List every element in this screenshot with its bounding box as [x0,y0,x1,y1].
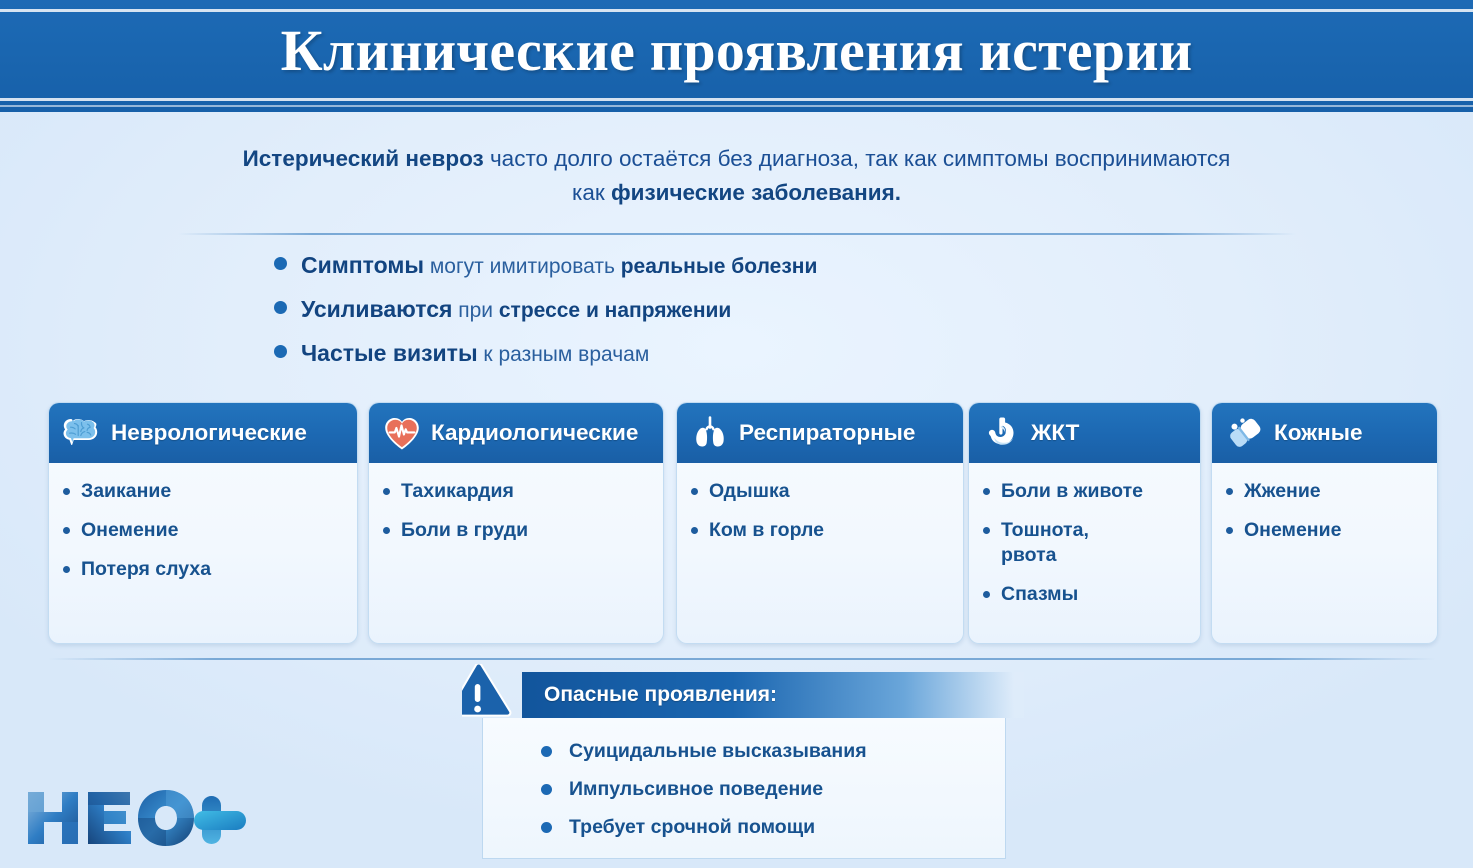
key-point-row: Симптомы могут имитировать реальные боле… [274,252,1174,296]
card-list-item: Боли в груди [383,518,651,543]
header-rule-bottom [0,98,1473,101]
stomach-icon [982,413,1022,453]
page-title: Клинические проявления истерии [0,17,1473,84]
card-item-label: Потеря слуха [81,557,211,582]
bullet-dot-icon [63,566,70,573]
bullet-dot-icon [1226,488,1233,495]
card-item-label: Спазмы [1001,582,1078,607]
card-title: ЖКТ [1031,420,1079,446]
bullet-dot-icon [983,591,990,598]
danger-list-item: Суицидальные высказывания [483,732,1005,770]
symptom-card-gastrointestinal[interactable]: ЖКТ Боли в животе Тошнота, рвота Спазмы [968,402,1201,644]
bandage-icon [1225,413,1265,453]
card-list-item: Онемение [63,518,345,543]
danger-signs-box: Опасные проявления: Суицидальные высказы… [462,672,1024,859]
card-item-label: Жжение [1244,479,1321,504]
card-item-label: Одышка [709,479,790,504]
card-header: Кожные [1212,403,1437,463]
danger-signs-list: Суицидальные высказывания Импульсивное п… [482,718,1006,859]
card-item-label: Боли в груди [401,518,528,543]
lungs-icon [690,413,730,453]
card-title: Неврологические [111,420,307,446]
danger-list-item: Импульсивное поведение [483,770,1005,808]
key-point-bold: Усиливаются [301,296,452,322]
warning-triangle-icon [462,664,548,726]
intro-paragraph: Истерический невроз часто долго остаётся… [130,142,1343,210]
key-point-row: Частые визиты к разным врачам [274,340,1174,384]
card-list-item: Заикание [63,479,345,504]
card-item-label: Заикание [81,479,171,504]
card-list-item: Потеря слуха [63,557,345,582]
danger-item-label: Суицидальные высказывания [569,740,867,763]
card-item-label: Онемение [81,518,178,543]
brain-icon [62,413,102,453]
bullet-dot-icon [541,784,552,795]
card-list-item: Жжение [1226,479,1425,504]
card-title: Респираторные [739,420,915,446]
intro-bold-lead: Истерический невроз [243,146,484,171]
bullet-dot-icon [1226,527,1233,534]
divider-top [178,233,1296,235]
card-list-item: Одышка [691,479,951,504]
card-header: Респираторные [677,403,963,463]
bullet-dot-icon [691,488,698,495]
bullet-dot-icon [63,488,70,495]
neo-plus-logo [20,786,256,850]
card-item-label: Тахикардия [401,479,514,504]
card-list-item: Онемение [1226,518,1425,543]
bullet-dot-icon [541,746,552,757]
danger-signs-title: Опасные проявления: [544,683,777,707]
bullet-dot-icon [274,301,287,314]
key-point-row: Усиливаются при стрессе и напряжении [274,296,1174,340]
divider-bottom [48,658,1436,660]
key-point-bold: Частые визиты [301,340,478,366]
key-point-regular: могут имитировать [424,255,621,278]
poster-header: Клинические проявления истерии [0,0,1473,112]
key-point-bold: Симптомы [301,252,424,278]
infographic-poster: Клинические проявления истерии Истеричес… [0,0,1473,868]
danger-item-label: Требует срочной помощи [569,816,815,839]
symptom-card-dermatological[interactable]: Кожные Жжение Онемение [1211,402,1438,644]
intro-bold-tail: физические заболевания. [611,180,901,205]
key-point-bold-2: стрессе и напряжении [499,299,731,322]
card-list-item: Ком в горле [691,518,951,543]
card-body: Боли в животе Тошнота, рвота Спазмы [969,463,1200,607]
key-point-regular: при [452,299,498,322]
symptom-card-respiratory[interactable]: Респираторные Одышка Ком в горле [676,402,964,644]
bullet-dot-icon [274,257,287,270]
bullet-dot-icon [274,345,287,358]
heart-pulse-icon [382,413,422,453]
danger-signs-header: Опасные проявления: [522,672,1024,718]
bullet-dot-icon [383,488,390,495]
danger-item-label: Импульсивное поведение [569,778,823,801]
card-header: Кардиологические [369,403,663,463]
card-item-label: Онемение [1244,518,1341,543]
header-rule-top [0,9,1473,12]
card-body: Одышка Ком в горле [677,463,963,543]
key-point-bold-2: реальные болезни [621,255,818,278]
header-rule-bottom-thin [0,105,1473,107]
symptom-card-cardiological[interactable]: Кардиологические Тахикардия Боли в груди [368,402,664,644]
card-item-label: Тошнота, рвота [1001,518,1089,568]
card-item-label: Ком в горле [709,518,824,543]
card-body: Тахикардия Боли в груди [369,463,663,543]
bullet-dot-icon [541,822,552,833]
card-list-item: Тахикардия [383,479,651,504]
bullet-dot-icon [983,488,990,495]
card-header: ЖКТ [969,403,1200,463]
bullet-dot-icon [983,527,990,534]
card-body: Жжение Онемение [1212,463,1437,543]
card-list-item: Тошнота, рвота [983,518,1188,568]
bullet-dot-icon [691,527,698,534]
key-points-list: Симптомы могут имитировать реальные боле… [274,252,1174,384]
symptom-card-neurological[interactable]: Неврологические Заикание Онемение Потеря… [48,402,358,644]
card-body: Заикание Онемение Потеря слуха [49,463,357,582]
intro-regular-1: часто долго остаётся без диагноза, так к… [484,146,1231,171]
card-title: Кожные [1274,420,1362,446]
card-item-label: Боли в животе [1001,479,1143,504]
card-list-item: Боли в животе [983,479,1188,504]
key-point-regular: к разным врачам [478,343,650,366]
bullet-dot-icon [63,527,70,534]
card-title: Кардиологические [431,420,638,446]
bullet-dot-icon [383,527,390,534]
intro-regular-2: как [572,180,611,205]
card-list-item: Спазмы [983,582,1188,607]
card-header: Неврологические [49,403,357,463]
danger-list-item: Требует срочной помощи [483,808,1005,846]
